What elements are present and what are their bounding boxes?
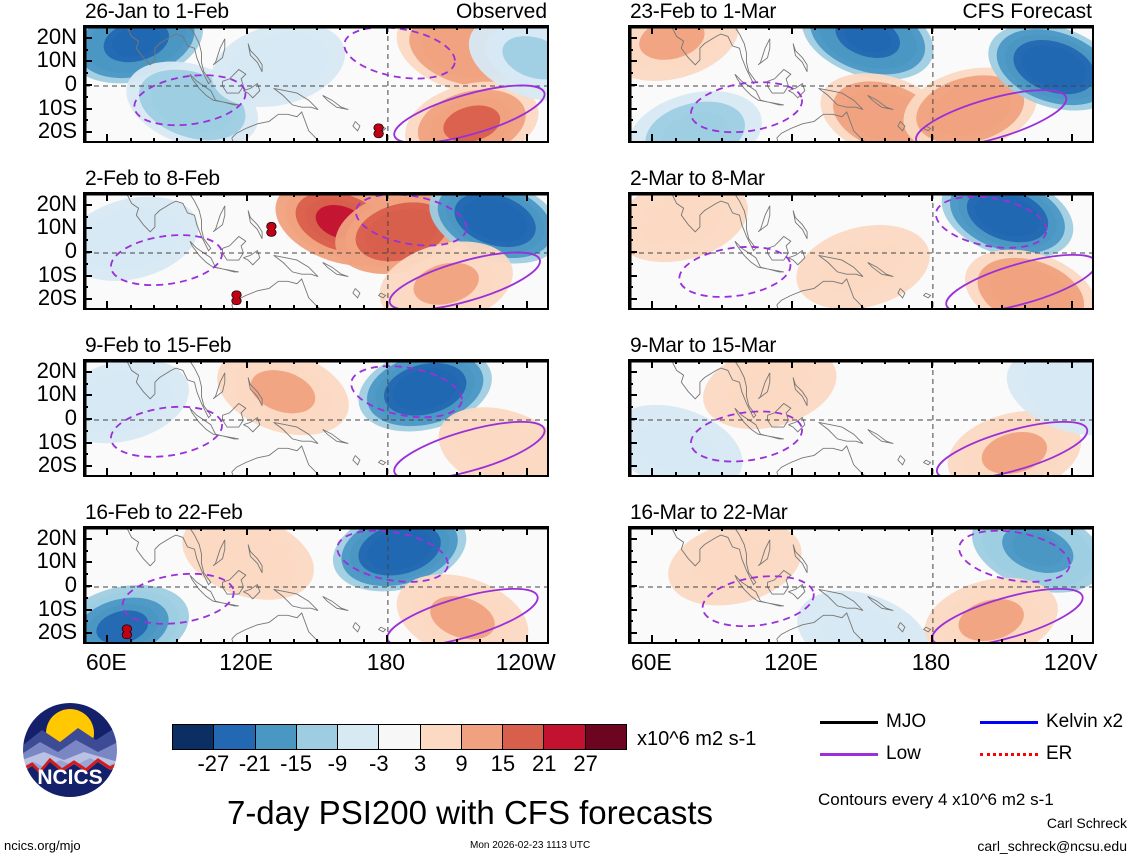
- y-tick-minor: [628, 119, 633, 121]
- x-tick: [791, 635, 793, 644]
- colorbar-bin-4: [338, 725, 379, 749]
- y-tick: [83, 632, 92, 634]
- y-tick-minor: [628, 620, 633, 622]
- x-tick-minor: [502, 472, 504, 477]
- x-tick-minor: [479, 305, 481, 310]
- x-tick-top: [293, 25, 295, 30]
- colorbar-tick-label: -9: [328, 752, 348, 776]
- y-tick-minor: [83, 620, 88, 622]
- x-tick-minor: [721, 305, 723, 310]
- x-tick-minor: [768, 472, 770, 477]
- x-tick: [526, 635, 528, 644]
- x-tick-minor: [339, 138, 341, 143]
- x-tick-minor: [1047, 472, 1049, 477]
- x-tick-top: [1024, 192, 1026, 197]
- legend-label: Kelvin x2: [1046, 712, 1123, 732]
- x-tick-top: [884, 359, 886, 364]
- x-tick-top: [651, 526, 653, 535]
- map-area: [83, 192, 549, 310]
- y-axis-label: 10N: [37, 383, 77, 405]
- y-tick: [628, 585, 637, 587]
- y-tick: [83, 131, 92, 133]
- x-tick-top: [153, 359, 155, 364]
- x-tick-minor: [176, 639, 178, 644]
- x-tick-minor: [339, 472, 341, 477]
- colorbar-tick-label: 3: [414, 752, 426, 776]
- y-axis-label: 20N: [37, 527, 77, 549]
- x-tick-minor: [698, 138, 700, 143]
- x-tick-top: [176, 25, 178, 30]
- x-tick-top: [386, 25, 388, 34]
- y-axis-label: 10N: [37, 216, 77, 238]
- x-tick-top: [386, 192, 388, 201]
- y-axis-label: 0: [65, 240, 77, 262]
- y-tick: [83, 251, 92, 253]
- y-tick: [628, 227, 637, 229]
- panel-title: 2-Mar to 8-Mar: [630, 168, 765, 189]
- x-tick-minor: [954, 639, 956, 644]
- x-tick-top: [526, 526, 528, 535]
- x-tick-minor: [409, 639, 411, 644]
- x-tick-minor: [316, 472, 318, 477]
- panel-title: 2-Feb to 8-Feb: [85, 168, 220, 189]
- x-tick-minor: [269, 639, 271, 644]
- x-tick-minor: [698, 639, 700, 644]
- x-tick: [106, 134, 108, 143]
- x-tick-top: [176, 192, 178, 197]
- cyclone-marker: [267, 222, 276, 236]
- x-tick-top: [675, 526, 677, 531]
- x-tick: [1071, 134, 1073, 143]
- y-axis-label: 0: [65, 574, 77, 596]
- x-tick-top: [130, 526, 132, 531]
- y-axis-label: 20N: [37, 360, 77, 382]
- x-tick-top: [698, 25, 700, 30]
- x-tick-top: [176, 526, 178, 531]
- map-field: [85, 528, 549, 644]
- map-field: [85, 27, 549, 143]
- x-tick-top: [908, 192, 910, 197]
- y-axis-label: 20S: [38, 454, 77, 476]
- colorbar-bin-2: [256, 725, 297, 749]
- x-tick-minor: [130, 472, 132, 477]
- x-tick: [526, 134, 528, 143]
- legend-line-swatch: [820, 721, 878, 724]
- x-tick-minor: [456, 472, 458, 477]
- y-tick: [628, 418, 637, 420]
- x-tick-minor: [130, 138, 132, 143]
- x-tick-top: [1001, 526, 1003, 531]
- x-tick-top: [293, 192, 295, 197]
- x-tick-top: [954, 359, 956, 364]
- y-axis-label: 10S: [38, 598, 77, 620]
- x-tick: [791, 301, 793, 310]
- x-tick: [931, 301, 933, 310]
- panel-title: 26-Jan to 1-Feb: [85, 1, 229, 22]
- x-tick-minor: [502, 305, 504, 310]
- x-tick-minor: [814, 472, 816, 477]
- x-tick-minor: [698, 305, 700, 310]
- x-tick-minor: [745, 138, 747, 143]
- x-tick-top: [363, 526, 365, 531]
- legend-item-er: ER: [980, 744, 1072, 764]
- legend-line-swatch: [980, 721, 1038, 724]
- x-tick-top: [884, 25, 886, 30]
- x-tick-minor: [1001, 472, 1003, 477]
- x-axis-label: 180: [367, 651, 405, 674]
- x-tick-minor: [675, 138, 677, 143]
- panel-title: 23-Feb to 1-Mar: [630, 1, 776, 22]
- x-tick-minor: [768, 138, 770, 143]
- x-tick-top: [433, 192, 435, 197]
- x-tick-minor: [814, 305, 816, 310]
- x-tick-minor: [200, 639, 202, 644]
- x-tick-minor: [838, 305, 840, 310]
- x-tick: [791, 468, 793, 477]
- y-tick: [83, 465, 92, 467]
- x-tick-top: [745, 192, 747, 197]
- x-tick-minor: [838, 472, 840, 477]
- x-tick-top: [768, 359, 770, 364]
- y-axis-label: 0: [65, 407, 77, 429]
- map-field: [85, 194, 549, 310]
- x-tick-top: [106, 192, 108, 201]
- x-tick-top: [409, 526, 411, 531]
- x-axis-label: 180: [912, 651, 950, 674]
- y-tick-minor: [83, 597, 88, 599]
- main-title: 7-day PSI200 with CFS forecasts: [160, 795, 780, 831]
- x-tick-top: [838, 359, 840, 364]
- x-tick-minor: [130, 305, 132, 310]
- x-tick-top: [479, 192, 481, 197]
- x-tick-top: [1001, 192, 1003, 197]
- x-tick-minor: [675, 639, 677, 644]
- colorbar-bin-7: [462, 725, 503, 749]
- x-tick-top: [954, 192, 956, 197]
- y-tick: [628, 394, 637, 396]
- x-tick-minor: [479, 138, 481, 143]
- y-axis-label: 20N: [37, 193, 77, 215]
- logo-text: NCICS: [37, 766, 102, 789]
- legend-item-kelvin-x2: Kelvin x2: [980, 712, 1123, 732]
- x-tick-minor: [1001, 138, 1003, 143]
- x-tick-minor: [176, 472, 178, 477]
- y-tick-minor: [628, 573, 633, 575]
- map-panel-r2-c1: 2-Feb to 8-Feb20N10N010S20S: [83, 192, 549, 310]
- y-tick: [628, 251, 637, 253]
- legend-line-swatch: [980, 753, 1038, 756]
- colorbar-tick-label: 27: [573, 752, 597, 776]
- y-tick: [628, 465, 637, 467]
- x-tick-top: [456, 192, 458, 197]
- x-tick-top: [651, 192, 653, 201]
- x-tick-top: [1071, 526, 1073, 535]
- colorbar-tick-label: -3: [369, 752, 389, 776]
- y-axis-label: 10S: [38, 431, 77, 453]
- x-tick-top: [130, 25, 132, 30]
- x-tick-top: [1047, 25, 1049, 30]
- x-tick-top: [908, 359, 910, 364]
- y-tick: [628, 371, 637, 373]
- x-tick-minor: [721, 138, 723, 143]
- legend-item-low: Low: [820, 744, 921, 764]
- colorbar-tick-label: -21: [239, 752, 271, 776]
- x-tick-top: [814, 359, 816, 364]
- x-tick-top: [954, 25, 956, 30]
- panel-title: 9-Feb to 15-Feb: [85, 335, 231, 356]
- x-tick-top: [931, 25, 933, 34]
- x-tick: [386, 635, 388, 644]
- y-tick-minor: [83, 72, 88, 74]
- y-tick-minor: [628, 49, 633, 51]
- x-tick-minor: [1001, 305, 1003, 310]
- map-panel-r3-c1: 9-Feb to 15-Feb20N10N010S20S: [83, 359, 549, 477]
- x-tick-minor: [908, 138, 910, 143]
- x-tick-top: [526, 25, 528, 34]
- y-tick: [628, 108, 637, 110]
- x-tick-minor: [409, 305, 411, 310]
- x-tick-minor: [861, 472, 863, 477]
- map-area: [628, 526, 1094, 644]
- x-tick-top: [908, 526, 910, 531]
- map-panel-r2-c2: 2-Mar to 8-Mar: [628, 192, 1094, 310]
- x-tick-top: [954, 526, 956, 531]
- x-tick-top: [1024, 359, 1026, 364]
- map-area: [83, 359, 549, 477]
- y-tick-minor: [83, 263, 88, 265]
- y-tick: [628, 538, 637, 540]
- colorbar-tick-label: -15: [280, 752, 312, 776]
- x-tick-minor: [814, 639, 816, 644]
- x-tick-top: [745, 526, 747, 531]
- x-tick-minor: [884, 305, 886, 310]
- y-tick-minor: [83, 216, 88, 218]
- y-axis-label: 0: [65, 73, 77, 95]
- x-tick-minor: [838, 639, 840, 644]
- map-panel-r3-c2: 9-Mar to 15-Mar: [628, 359, 1094, 477]
- y-tick: [628, 632, 637, 634]
- colorbar-bin-3: [297, 725, 338, 749]
- x-tick-minor: [954, 472, 956, 477]
- x-tick-top: [502, 526, 504, 531]
- legend-label: ER: [1046, 744, 1072, 764]
- y-tick: [628, 275, 637, 277]
- x-tick-top: [931, 192, 933, 201]
- x-tick-top: [246, 359, 248, 368]
- x-tick-minor: [502, 639, 504, 644]
- colorbar-tick-label: 9: [455, 752, 467, 776]
- x-tick-top: [1024, 526, 1026, 531]
- colorbar-bin-10: [586, 725, 626, 749]
- contour-note: Contours every 4 x10^6 m2 s-1: [818, 790, 1054, 810]
- y-tick: [83, 298, 92, 300]
- x-tick-top: [176, 359, 178, 364]
- x-tick-top: [502, 192, 504, 197]
- x-tick: [386, 301, 388, 310]
- colorbar-ticks: -27-21-15-9-339152127: [172, 752, 627, 778]
- colorbar-tick-label: 15: [491, 752, 515, 776]
- x-tick-minor: [200, 138, 202, 143]
- x-tick-top: [745, 359, 747, 364]
- x-tick-top: [293, 359, 295, 364]
- x-tick: [246, 468, 248, 477]
- x-tick-minor: [363, 639, 365, 644]
- y-tick-minor: [628, 597, 633, 599]
- x-tick-minor: [721, 472, 723, 477]
- y-axis-label: 20S: [38, 621, 77, 643]
- x-tick-top: [768, 192, 770, 197]
- colorbar: [172, 724, 627, 750]
- x-tick-minor: [814, 138, 816, 143]
- x-tick-top: [269, 192, 271, 197]
- map-panel-r4-c2: 16-Mar to 22-Mar60E120E180120V: [628, 526, 1094, 644]
- x-tick-top: [1024, 25, 1026, 30]
- x-axis-label: 120V: [1044, 651, 1098, 674]
- map-panel-r4-c1: 16-Feb to 22-Feb20N10N010S20S60E120E1801…: [83, 526, 549, 644]
- x-tick-top: [433, 526, 435, 531]
- x-tick-top: [339, 526, 341, 531]
- map-field: [630, 194, 1094, 310]
- y-tick-minor: [628, 550, 633, 552]
- x-tick-top: [106, 25, 108, 34]
- x-tick: [1071, 468, 1073, 477]
- x-tick-top: [1047, 359, 1049, 364]
- x-tick-minor: [978, 138, 980, 143]
- x-tick-top: [931, 359, 933, 368]
- x-tick-minor: [978, 305, 980, 310]
- y-tick-minor: [628, 216, 633, 218]
- generation-timestamp: Mon 2026-02-23 1113 UTC: [470, 840, 590, 851]
- y-tick-minor: [83, 430, 88, 432]
- x-tick-top: [978, 526, 980, 531]
- x-tick: [106, 635, 108, 644]
- x-tick-minor: [1001, 639, 1003, 644]
- x-tick-top: [293, 526, 295, 531]
- x-tick-top: [363, 25, 365, 30]
- map-panel-r1-c1: 26-Jan to 1-FebObserved20N10N010S20S: [83, 25, 549, 143]
- x-tick-top: [130, 359, 132, 364]
- x-tick-minor: [316, 305, 318, 310]
- x-tick-minor: [745, 639, 747, 644]
- y-tick: [83, 275, 92, 277]
- x-tick-minor: [861, 138, 863, 143]
- x-tick-minor: [176, 305, 178, 310]
- x-tick-minor: [223, 305, 225, 310]
- x-tick-minor: [293, 305, 295, 310]
- x-tick: [651, 301, 653, 310]
- colorbar-units: x10^6 m2 s-1: [637, 728, 756, 750]
- x-tick: [246, 134, 248, 143]
- x-tick-top: [456, 359, 458, 364]
- x-tick-top: [200, 359, 202, 364]
- x-tick: [1071, 301, 1073, 310]
- x-tick-minor: [1024, 138, 1026, 143]
- x-tick-minor: [1024, 639, 1026, 644]
- x-axis-label: 120E: [764, 651, 818, 674]
- x-tick-top: [1047, 526, 1049, 531]
- x-tick-top: [698, 526, 700, 531]
- x-tick-minor: [502, 138, 504, 143]
- x-tick: [246, 301, 248, 310]
- x-tick-top: [153, 526, 155, 531]
- y-tick: [628, 131, 637, 133]
- y-tick: [83, 561, 92, 563]
- x-tick-top: [675, 192, 677, 197]
- site-url: ncics.org/mjo: [4, 838, 81, 853]
- x-tick-top: [316, 25, 318, 30]
- x-tick: [106, 301, 108, 310]
- x-tick-top: [106, 526, 108, 535]
- x-tick-top: [409, 25, 411, 30]
- y-tick-minor: [628, 430, 633, 432]
- x-tick-top: [861, 192, 863, 197]
- x-tick: [1071, 635, 1073, 644]
- x-tick-minor: [954, 305, 956, 310]
- x-tick-top: [316, 192, 318, 197]
- x-tick-minor: [908, 472, 910, 477]
- x-tick-top: [456, 526, 458, 531]
- y-tick-minor: [628, 96, 633, 98]
- x-tick-top: [1001, 359, 1003, 364]
- x-tick-top: [978, 359, 980, 364]
- y-axis-label: 20S: [38, 287, 77, 309]
- y-tick: [83, 585, 92, 587]
- x-tick-minor: [745, 472, 747, 477]
- x-tick-minor: [153, 138, 155, 143]
- x-tick-top: [791, 359, 793, 368]
- x-tick-top: [246, 526, 248, 535]
- y-tick: [628, 204, 637, 206]
- colorbar-bin-0: [173, 725, 214, 749]
- y-tick: [83, 609, 92, 611]
- x-axis-label: 120W: [496, 651, 556, 674]
- x-tick-top: [884, 192, 886, 197]
- x-tick-minor: [861, 305, 863, 310]
- x-tick-top: [409, 192, 411, 197]
- x-tick-top: [479, 359, 481, 364]
- y-tick-minor: [83, 96, 88, 98]
- y-tick-minor: [83, 286, 88, 288]
- y-tick: [83, 84, 92, 86]
- x-tick-minor: [223, 639, 225, 644]
- x-tick-top: [363, 359, 365, 364]
- x-tick-minor: [200, 472, 202, 477]
- x-tick: [386, 134, 388, 143]
- ncics-logo: NCICS: [20, 700, 120, 800]
- y-axis-label: 10S: [38, 97, 77, 119]
- x-tick-top: [130, 192, 132, 197]
- x-tick-top: [1047, 192, 1049, 197]
- colorbar-bin-1: [214, 725, 255, 749]
- x-tick: [526, 301, 528, 310]
- x-tick-minor: [954, 138, 956, 143]
- x-tick-top: [339, 359, 341, 364]
- legend-label: Low: [886, 744, 921, 764]
- x-tick-minor: [978, 472, 980, 477]
- x-tick-minor: [409, 472, 411, 477]
- y-axis-label: 10N: [37, 49, 77, 71]
- legend-label: MJO: [886, 712, 926, 732]
- x-tick: [386, 468, 388, 477]
- x-tick-minor: [200, 305, 202, 310]
- x-tick-top: [791, 526, 793, 535]
- x-tick-minor: [1047, 639, 1049, 644]
- x-tick-top: [316, 359, 318, 364]
- x-tick-top: [1001, 25, 1003, 30]
- x-tick-minor: [316, 639, 318, 644]
- x-tick-minor: [269, 138, 271, 143]
- map-area: [628, 25, 1094, 143]
